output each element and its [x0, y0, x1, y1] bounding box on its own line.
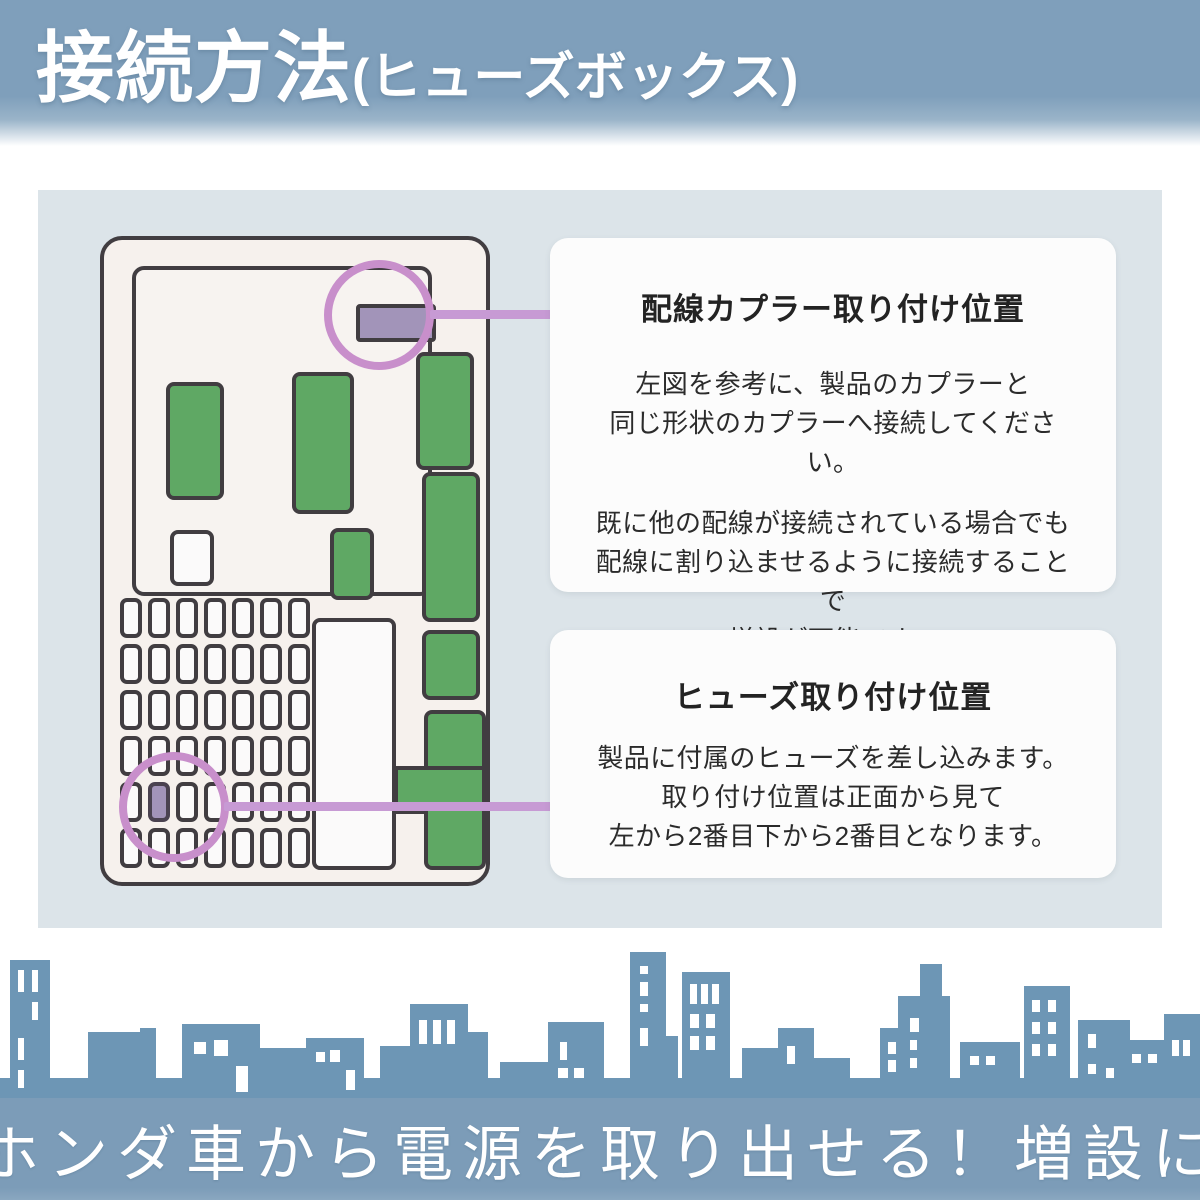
fuse-slot[interactable] — [260, 736, 282, 776]
building — [88, 1032, 140, 1100]
fuse-slot[interactable] — [148, 598, 170, 638]
relay-block-left-large — [166, 382, 224, 500]
fuse-slot[interactable] — [288, 736, 310, 776]
relay-block-center-large — [292, 372, 354, 514]
building-window — [1172, 1040, 1179, 1056]
relay-step-lower — [424, 810, 486, 870]
city-skyline-illustration — [0, 930, 1200, 1100]
building — [1024, 986, 1070, 1100]
fuse-slot[interactable] — [260, 644, 282, 684]
card-wiring-coupler-paragraph-1: 左図を参考に、製品のカプラーと 同じ形状のカプラーへ接続してください。 — [590, 365, 1076, 482]
building — [682, 972, 730, 1100]
fuse-slot[interactable] — [204, 690, 226, 730]
fuse-slot[interactable] — [232, 828, 254, 868]
fuse-slot[interactable] — [232, 598, 254, 638]
building — [960, 1042, 1020, 1100]
building-window — [910, 1018, 919, 1032]
building-window — [701, 984, 708, 1004]
building — [806, 1058, 850, 1100]
building-window — [574, 1068, 584, 1078]
building-window — [640, 1004, 648, 1012]
card-fuse-position-paragraph-1: 製品に付属のヒューズを差し込みます。 取り付け位置は正面から見て 左から2番目下… — [590, 739, 1076, 856]
fuse-slot[interactable] — [260, 690, 282, 730]
relay-block-right-small — [422, 630, 480, 700]
building — [654, 1036, 678, 1100]
page-title: 接続方法(ヒューズボックス) — [36, 22, 799, 124]
building-window — [1032, 1022, 1040, 1034]
fuse-slot[interactable] — [204, 644, 226, 684]
building — [898, 996, 950, 1100]
relay-block-right-mid — [422, 472, 480, 622]
fuse-slot[interactable] — [148, 690, 170, 730]
fuse-slot[interactable] — [120, 598, 142, 638]
building — [182, 1024, 260, 1100]
building-window — [1048, 1000, 1056, 1012]
fuse-slot[interactable] — [232, 690, 254, 730]
building-window — [690, 1014, 699, 1028]
fuse-slot[interactable] — [204, 598, 226, 638]
building-window — [1048, 1022, 1056, 1034]
fuse-slot[interactable] — [260, 828, 282, 868]
building-window — [558, 1068, 568, 1078]
building-window — [970, 1056, 979, 1065]
leader-line-fuse — [224, 802, 554, 811]
building-window — [32, 1002, 38, 1020]
relay-block-right-top — [416, 352, 474, 470]
building — [306, 1038, 364, 1100]
relay-block-center-small — [330, 528, 374, 600]
building-window — [419, 1020, 427, 1044]
building-window — [32, 970, 38, 992]
content-panel: 配線カプラー取り付け位置 左図を参考に、製品のカプラーと 同じ形状のカプラーへ接… — [38, 190, 1162, 928]
fuse-slot[interactable] — [120, 644, 142, 684]
building-window — [236, 1066, 248, 1092]
fuse-slot[interactable] — [120, 690, 142, 730]
fuse-slot[interactable] — [232, 736, 254, 776]
building-window — [640, 1028, 648, 1046]
building-window — [1132, 1054, 1141, 1063]
building-window — [690, 1036, 699, 1050]
bottom-banner-text: ホンダ車から電源を取り出せる！増設に — [0, 1098, 1200, 1200]
callout-ring-fuse — [119, 752, 229, 862]
building-window — [706, 1014, 715, 1028]
fuse-slot[interactable] — [232, 644, 254, 684]
building-window — [18, 1038, 24, 1060]
fuse-slot[interactable] — [176, 644, 198, 684]
building — [410, 1004, 468, 1100]
relay-step-upper — [424, 710, 486, 770]
page-title-main: 接続方法 — [36, 22, 352, 114]
fuse-slot[interactable] — [176, 690, 198, 730]
card-wiring-coupler: 配線カプラー取り付け位置 左図を参考に、製品のカプラーと 同じ形状のカプラーへ接… — [550, 238, 1116, 592]
building — [462, 1032, 488, 1100]
page-header: 接続方法(ヒューズボックス) — [0, 0, 1200, 146]
fuse-slot[interactable] — [288, 690, 310, 730]
building-window — [214, 1040, 228, 1056]
building — [742, 1048, 782, 1100]
building-window — [1088, 1034, 1096, 1048]
fuse-slot[interactable] — [176, 598, 198, 638]
fuse-slot[interactable] — [148, 644, 170, 684]
building-window — [433, 1020, 441, 1044]
building-window — [1148, 1054, 1157, 1063]
building-window — [1088, 1064, 1096, 1074]
building-window — [194, 1042, 206, 1054]
bottom-banner: ホンダ車から電源を取り出せる！増設に — [0, 1098, 1200, 1200]
building-window — [712, 984, 719, 1004]
building-window — [640, 966, 648, 974]
building-window — [346, 1070, 355, 1090]
leader-line-coupler — [430, 310, 554, 319]
callout-ring-coupler — [324, 260, 434, 370]
building — [1078, 1020, 1130, 1100]
building-window — [640, 982, 648, 996]
fuse-slot[interactable] — [288, 828, 310, 868]
building-window — [787, 1046, 795, 1064]
building-window — [18, 1070, 24, 1088]
building-window — [330, 1050, 340, 1062]
building-window — [1106, 1068, 1114, 1078]
building-window — [888, 1060, 896, 1072]
building-window — [706, 1036, 715, 1050]
building — [1164, 1014, 1200, 1100]
building — [548, 1022, 604, 1100]
building-window — [910, 1040, 917, 1050]
building-window — [910, 1058, 917, 1068]
building-window — [560, 1042, 567, 1060]
card-fuse-position-title: ヒューズ取り付け位置 — [590, 672, 1076, 717]
building — [1124, 1040, 1168, 1100]
empty-relay-slot — [170, 530, 214, 586]
fuse-slot[interactable] — [260, 598, 282, 638]
building — [140, 1028, 156, 1100]
building-window — [18, 970, 24, 992]
relay-block-right-stepped — [394, 710, 486, 870]
building-window — [888, 1042, 896, 1054]
fuse-slot[interactable] — [288, 598, 310, 638]
building — [258, 1048, 310, 1100]
building-window — [690, 984, 697, 1004]
building-window — [986, 1056, 995, 1065]
building-window — [1048, 1044, 1056, 1056]
page-title-sub: (ヒューズボックス) — [352, 32, 798, 124]
building-window — [316, 1052, 325, 1062]
card-fuse-position: ヒューズ取り付け位置 製品に付属のヒューズを差し込みます。 取り付け位置は正面か… — [550, 630, 1116, 878]
building-window — [1032, 1000, 1040, 1012]
building-window — [447, 1020, 455, 1044]
building-window — [1032, 1044, 1040, 1056]
card-wiring-coupler-title: 配線カプラー取り付け位置 — [590, 284, 1076, 329]
fuse-slot[interactable] — [288, 644, 310, 684]
large-connector-block — [312, 618, 396, 870]
building — [10, 960, 50, 1100]
building-window — [1183, 1040, 1190, 1056]
